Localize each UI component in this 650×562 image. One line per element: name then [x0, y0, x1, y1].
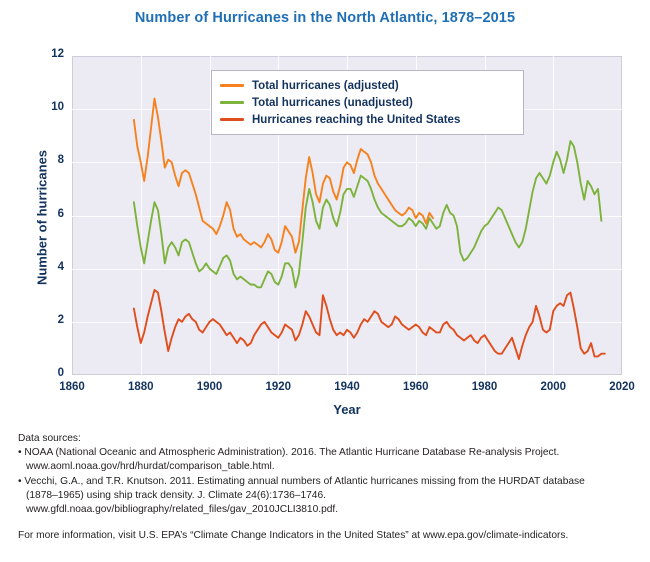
footnotes: Data sources: • NOAA (National Oceanic a… [18, 432, 636, 543]
legend-label-adjusted: Total hurricanes (adjusted) [252, 80, 399, 92]
x-axis-tick-label: 1960 [386, 381, 446, 393]
legend-label-unadjusted: Total hurricanes (unadjusted) [252, 97, 413, 109]
x-axis-tick-label: 1920 [248, 381, 308, 393]
series-line [134, 141, 602, 287]
y-axis-label: Number of hurricanes [35, 88, 50, 348]
legend-swatch-us-landfall [220, 118, 244, 121]
y-axis-label-wrapper: Number of hurricanes [22, 60, 42, 370]
legend-label-us-landfall: Hurricanes reaching the United States [252, 114, 460, 126]
legend-item-unadjusted: Total hurricanes (unadjusted) [220, 94, 513, 111]
x-axis-tick-label: 1880 [111, 381, 171, 393]
legend-swatch-unadjusted [220, 101, 244, 104]
footnote-line: www.gfdl.noaa.gov/bibliography/related_f… [18, 503, 636, 517]
x-axis-tick-label: 1900 [180, 381, 240, 393]
series-line [134, 290, 605, 359]
y-axis-tick-label: 12 [26, 48, 64, 60]
footnote-line: (1878–1965) using ship track density. J.… [18, 489, 636, 503]
legend-item-us-landfall: Hurricanes reaching the United States [220, 111, 513, 128]
x-axis-tick-label: 1980 [455, 381, 515, 393]
footnote-heading: Data sources: [18, 432, 636, 446]
legend-swatch-adjusted [220, 84, 244, 87]
chart-legend: Total hurricanes (adjusted) Total hurric… [211, 70, 524, 135]
page-title: Number of Hurricanes in the North Atlant… [0, 10, 650, 26]
x-axis-tick-label: 2020 [592, 381, 650, 393]
x-axis-tick-row: 186018801900192019401960198020002020 [72, 381, 622, 401]
x-axis-tick-label: 1940 [317, 381, 377, 393]
footnote-spacer [18, 517, 636, 529]
footnote-more-info: For more information, visit U.S. EPA’s “… [18, 529, 636, 543]
x-axis-tick-label: 2000 [523, 381, 583, 393]
footnote-line: • NOAA (National Oceanic and Atmospheric… [18, 446, 636, 460]
legend-item-adjusted: Total hurricanes (adjusted) [220, 77, 513, 94]
x-axis-tick-label: 1860 [42, 381, 102, 393]
x-axis-label: Year [72, 402, 622, 417]
footnote-line: • Vecchi, G.A., and T.R. Knutson. 2011. … [18, 475, 636, 489]
footnote-line: www.aoml.noaa.gov/hrd/hurdat/comparison_… [18, 460, 636, 474]
